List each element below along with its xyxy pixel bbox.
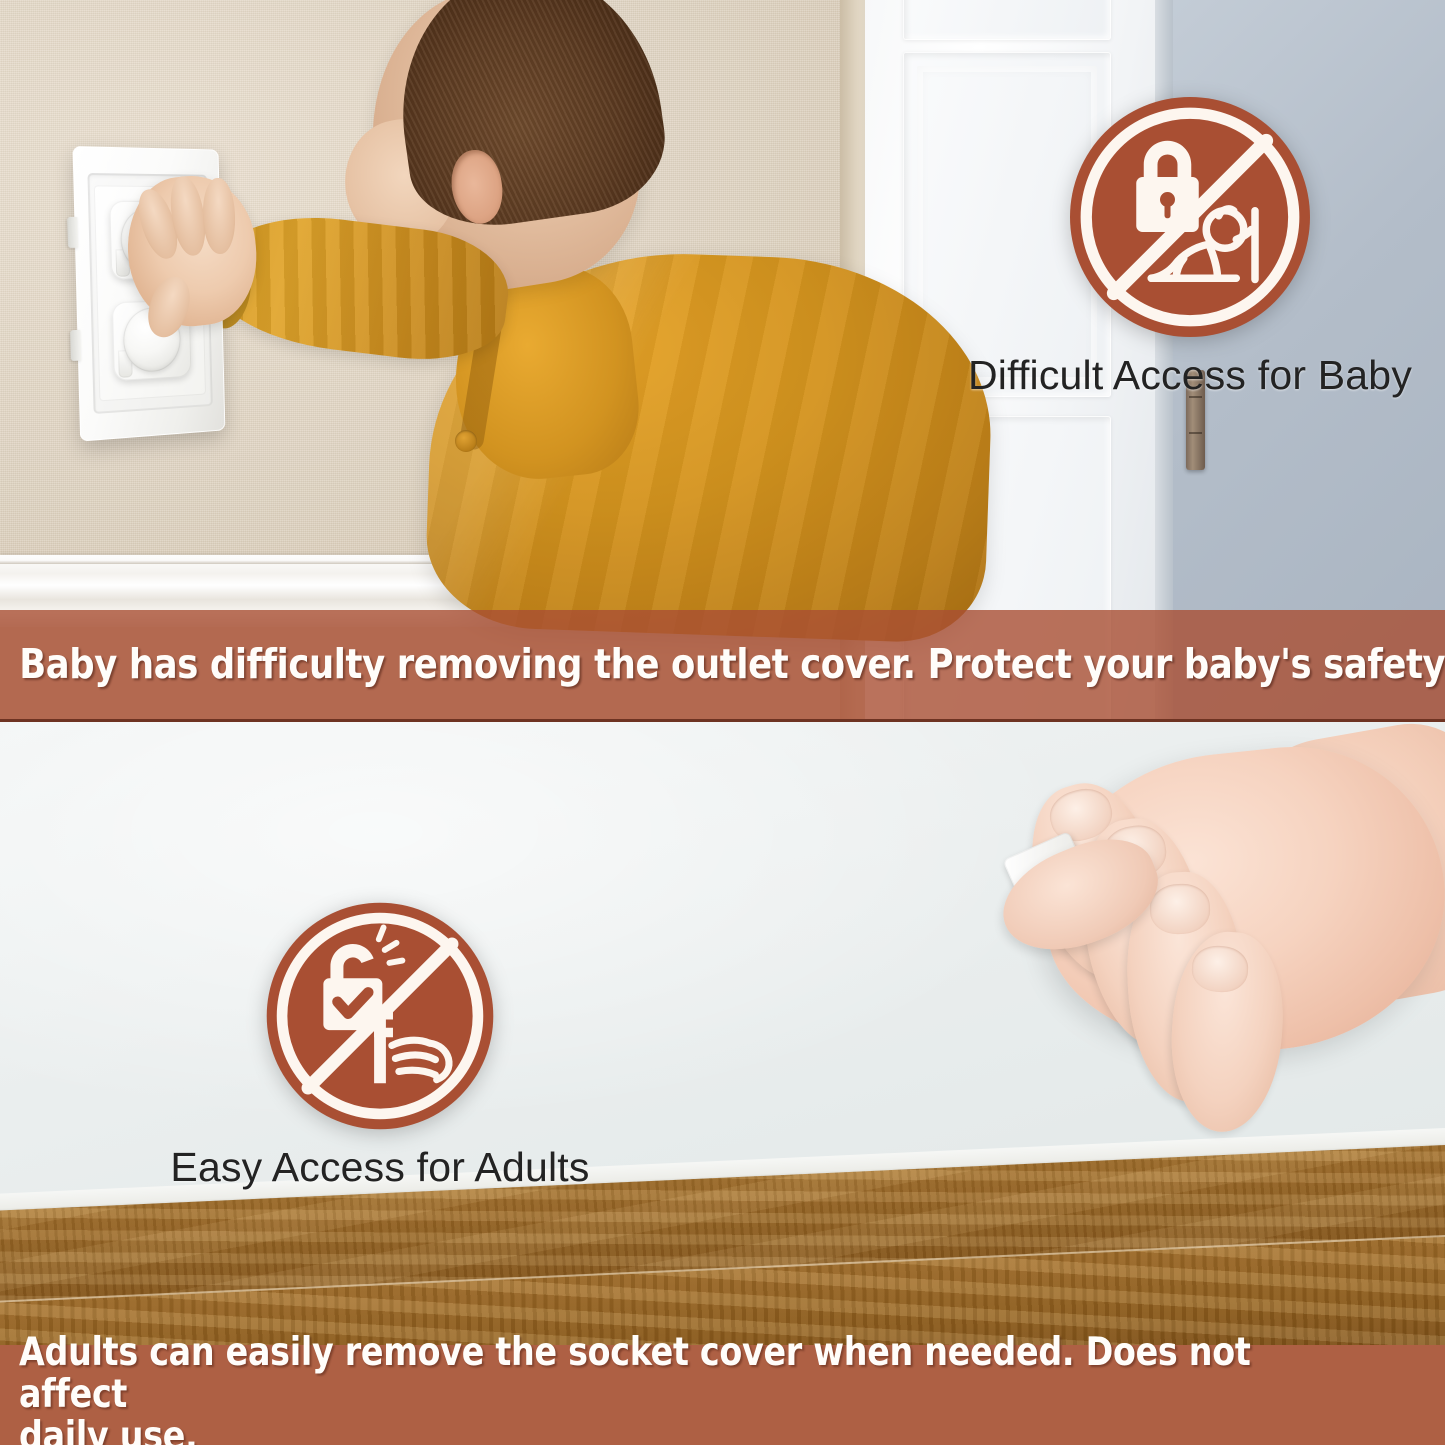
banner-bottom: Adults can easily remove the socket cove… (0, 1345, 1445, 1445)
banner-top: Baby has difficulty removing the outlet … (0, 610, 1445, 722)
banner-bottom-line2: daily use. (19, 1414, 198, 1445)
banner-bottom-line1: Adults can easily remove the socket cove… (19, 1330, 1251, 1417)
product-feature-graphic: Difficult Access for Baby Baby has diffi… (0, 0, 1445, 1445)
banner-top-text: Baby has difficulty removing the outlet … (0, 642, 1445, 686)
badge-difficult-access-for-baby: Difficult Access for Baby (930, 92, 1445, 399)
banner-bottom-text: Adults can easily remove the socket cove… (0, 1332, 1373, 1445)
badge-easy-access-for-adults: Easy Access for Adults (130, 898, 630, 1191)
no-baby-access-icon (1065, 92, 1315, 342)
door-panel-top (903, 0, 1111, 40)
badge-label-difficult-access: Difficult Access for Baby (930, 352, 1445, 399)
cover-hinge-lower (70, 329, 81, 360)
cover-hinge-upper (67, 217, 78, 248)
easy-adult-access-icon (262, 898, 498, 1134)
baby-shirt-button (455, 430, 477, 452)
badge-label-easy-access: Easy Access for Adults (130, 1144, 630, 1191)
